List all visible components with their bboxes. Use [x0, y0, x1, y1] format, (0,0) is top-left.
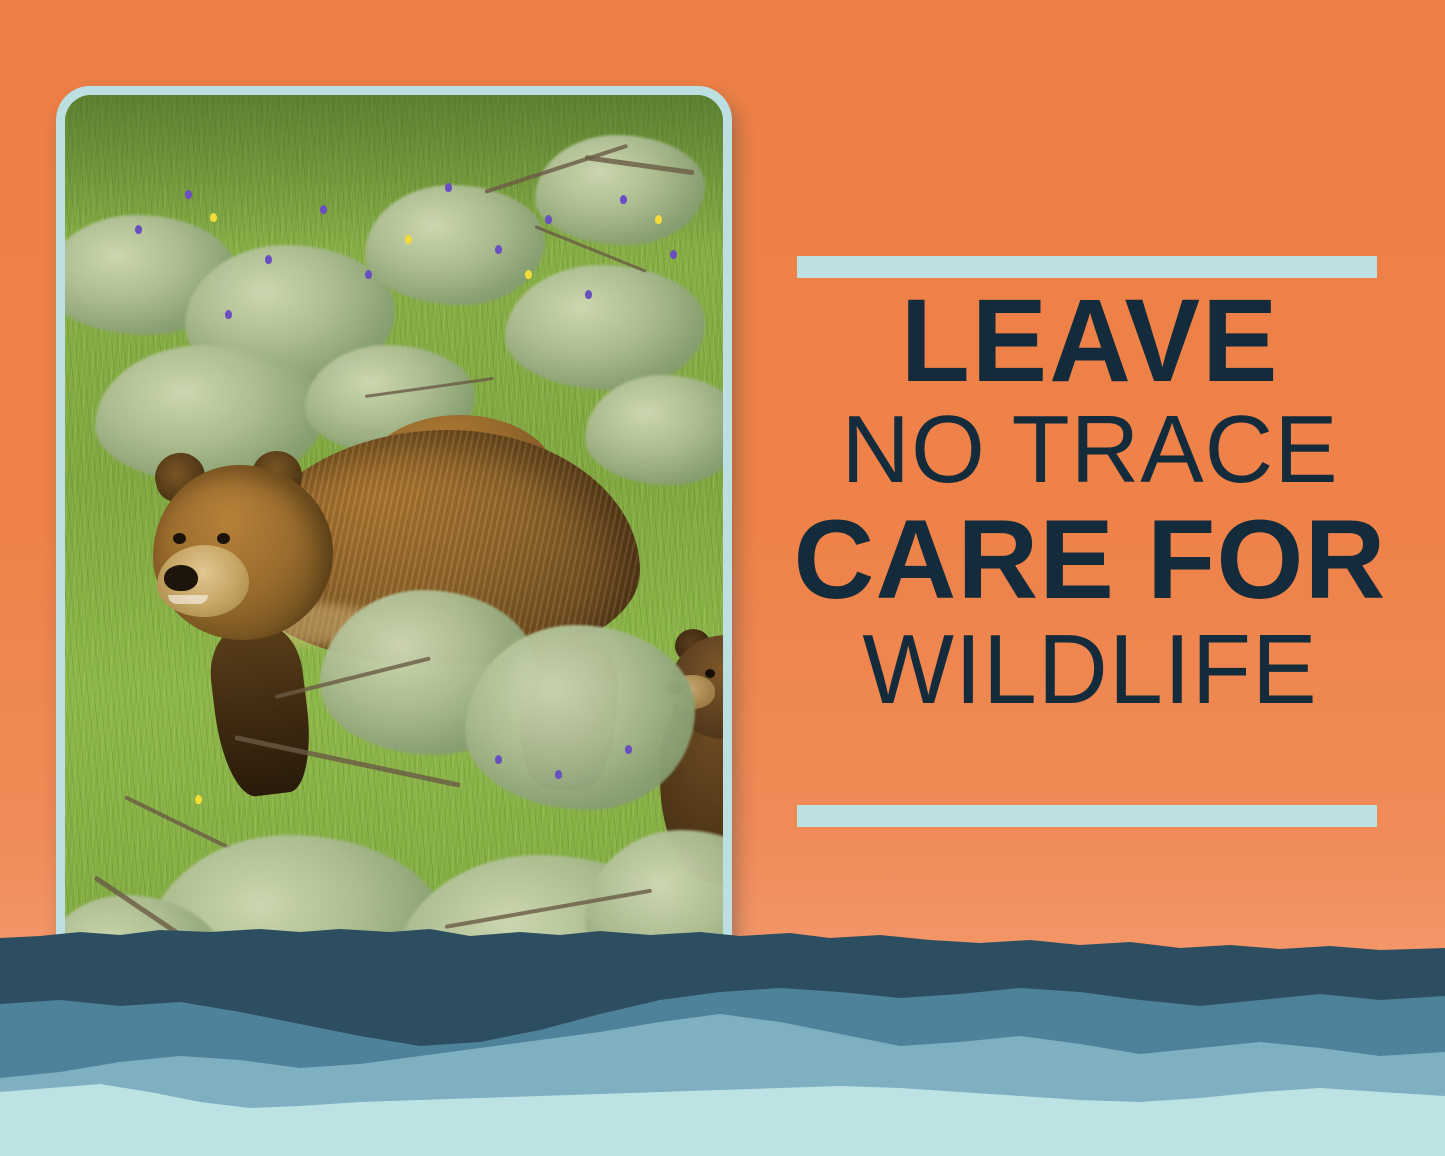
purple-wildflower — [445, 183, 452, 192]
bottom-accent-bar — [797, 805, 1377, 827]
purple-wildflower — [225, 310, 232, 319]
bear-eye-right — [217, 533, 230, 544]
sagebrush — [365, 185, 545, 305]
bear-eye-left — [173, 533, 186, 544]
purple-wildflower — [555, 770, 562, 779]
purple-wildflower — [620, 195, 627, 204]
purple-wildflower — [185, 190, 192, 199]
headline-text-block: LEAVE NO TRACE CARE FOR WILDLIFE — [780, 282, 1400, 718]
purple-wildflower — [365, 270, 372, 279]
purple-wildflower — [265, 255, 272, 264]
bear-nose — [164, 565, 198, 591]
yellow-wildflower — [655, 215, 662, 224]
purple-wildflower — [135, 225, 142, 234]
purple-wildflower — [495, 755, 502, 764]
yellow-wildflower — [195, 795, 202, 804]
purple-wildflower — [320, 205, 327, 214]
headline-line-care-for: CARE FOR — [780, 504, 1400, 616]
poster-canvas: LEAVE NO TRACE CARE FOR WILDLIFE — [0, 0, 1445, 1156]
mountain-landscape-graphic — [0, 896, 1445, 1156]
yellow-wildflower — [210, 213, 217, 222]
cub-eye — [705, 669, 715, 678]
yellow-wildflower — [405, 235, 412, 244]
yellow-wildflower — [525, 270, 532, 279]
bear-mouth — [168, 595, 208, 604]
headline-line-wildlife: WILDLIFE — [783, 620, 1397, 718]
sagebrush — [505, 265, 705, 390]
purple-wildflower — [545, 215, 552, 224]
purple-wildflower — [585, 290, 592, 299]
purple-wildflower — [670, 250, 677, 259]
headline-line-no-trace: NO TRACE — [783, 402, 1397, 498]
sagebrush — [535, 135, 705, 245]
sagebrush — [465, 625, 695, 810]
purple-wildflower — [625, 745, 632, 754]
purple-wildflower — [495, 245, 502, 254]
headline-line-leave: LEAVE — [792, 282, 1387, 400]
